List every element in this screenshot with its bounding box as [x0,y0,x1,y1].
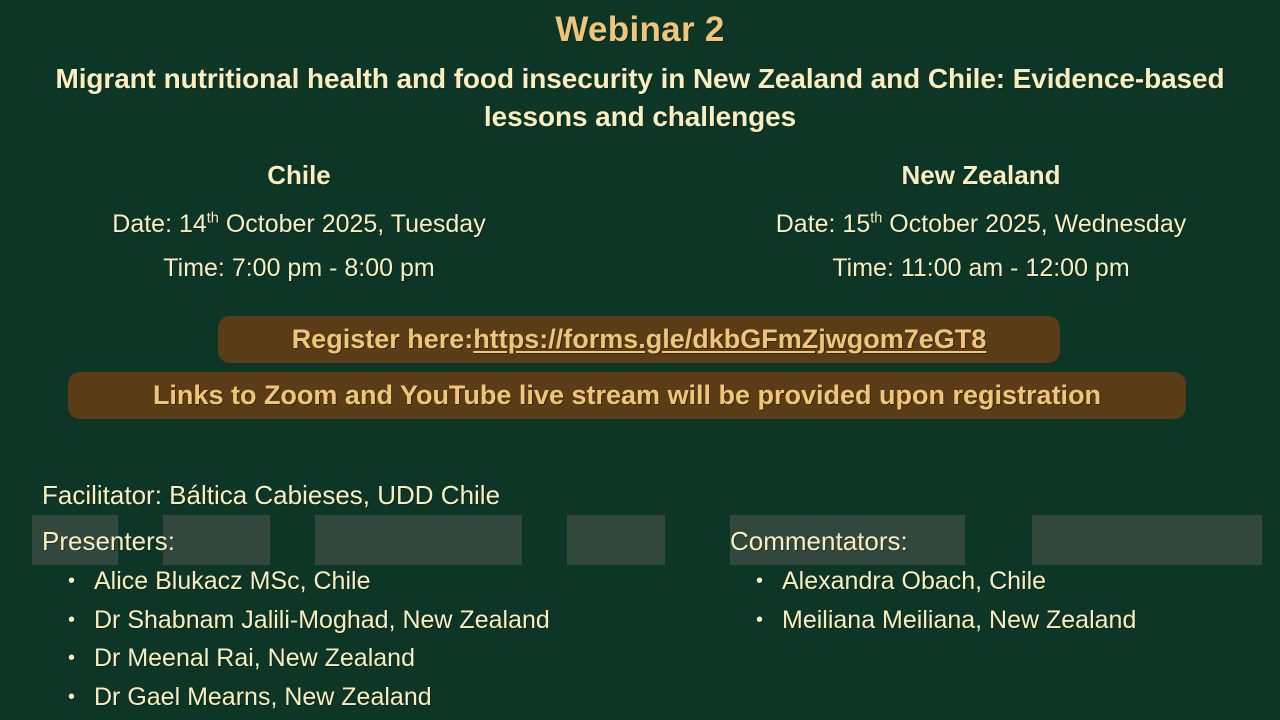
time-line-new-zealand: Time: 11:00 am - 12:00 pm [682,246,1280,290]
commentators-column: Commentators: Alexandra Obach, ChileMeil… [730,524,1136,639]
date-line-chile: Date: 14th October 2025, Tuesday [0,202,598,246]
list-item: Meiliana Meiliana, New Zealand [782,601,1136,640]
presenters-list: Alice Blukacz MSc, ChileDr Shabnam Jalil… [42,562,550,716]
schedule-columns: Chile Date: 14th October 2025, Tuesday T… [0,158,1280,290]
presenters-column: Presenters: Alice Blukacz MSc, ChileDr S… [42,524,550,716]
time-line-chile: Time: 7:00 pm - 8:00 pm [0,246,598,290]
date-suffix-new-zealand: October 2025, Wednesday [882,210,1186,238]
stream-links-text: Links to Zoom and YouTube live stream wi… [153,380,1101,411]
list-item: Dr Gael Mearns, New Zealand [94,678,550,717]
list-item: Dr Shabnam Jalili-Moghad, New Zealand [94,601,550,640]
country-name-chile: Chile [0,158,598,192]
country-name-new-zealand: New Zealand [682,158,1280,192]
selection-highlight-box [567,515,665,565]
date-prefix-chile: Date: 14 [112,210,207,238]
list-item: Dr Meenal Rai, New Zealand [94,639,550,678]
schedule-column-new-zealand: New Zealand Date: 15th October 2025, Wed… [640,158,1280,290]
register-link[interactable]: https://forms.gle/dkbGFmZjwgom7eGT8 [473,324,986,355]
webinar-slide: Webinar 2 Migrant nutritional health and… [0,0,1280,720]
date-suffix-chile: October 2025, Tuesday [219,210,486,238]
register-label: Register here: [292,324,474,355]
register-banner[interactable]: Register here: https://forms.gle/dkbGFmZ… [218,316,1060,363]
list-item: Alice Blukacz MSc, Chile [94,562,550,601]
facilitator-line: Facilitator: Báltica Cabieses, UDD Chile [42,480,500,511]
date-ordinal-chile: th [207,211,219,227]
commentators-list: Alexandra Obach, ChileMeiliana Meiliana,… [730,562,1136,639]
list-item: Alexandra Obach, Chile [782,562,1136,601]
date-prefix-new-zealand: Date: 15 [776,210,871,238]
page-subtitle: Migrant nutritional health and food inse… [18,60,1262,136]
schedule-column-chile: Chile Date: 14th October 2025, Tuesday T… [0,158,640,290]
date-line-new-zealand: Date: 15th October 2025, Wednesday [682,202,1280,246]
presenters-heading: Presenters: [42,524,550,558]
stream-links-banner: Links to Zoom and YouTube live stream wi… [68,372,1186,419]
page-title: Webinar 2 [0,10,1280,50]
commentators-heading: Commentators: [730,524,1136,558]
date-ordinal-new-zealand: th [870,211,882,227]
